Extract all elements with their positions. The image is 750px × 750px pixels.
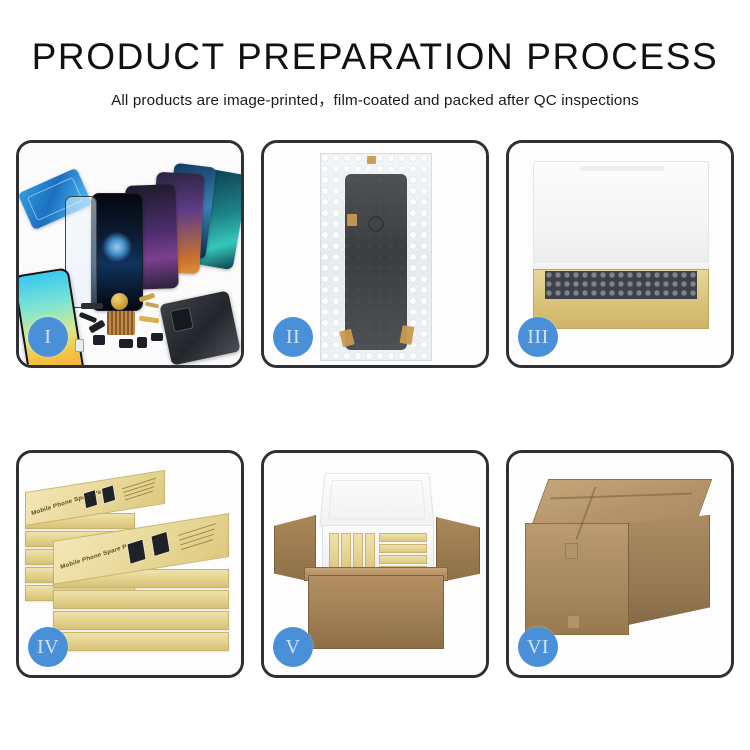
white-foam-lid-icon xyxy=(319,473,435,528)
kraft-box-inside xyxy=(341,533,351,571)
page-subtitle: All products are image-printed，film-coat… xyxy=(0,88,750,110)
kraft-box-side xyxy=(53,611,229,630)
process-step-panel-1: I xyxy=(16,140,244,368)
bubble-wrap-bag-icon xyxy=(320,153,432,361)
product-assortment-photo: I xyxy=(19,143,241,365)
process-step-panel-3: III xyxy=(506,140,734,368)
kraft-box-inside xyxy=(329,533,339,571)
screen-assembly-icon xyxy=(345,174,407,350)
process-step-panel-6: VI xyxy=(506,450,734,678)
shipping-carton-icon xyxy=(308,575,444,649)
gold-tape-icon xyxy=(347,214,357,226)
boxed-units-stack-photo: Mobile Phone Spare Parts xyxy=(19,453,241,675)
product-preparation-infographic: PRODUCT PREPARATION PROCESS All products… xyxy=(0,0,750,750)
box-screen-image xyxy=(83,489,98,509)
packing-tape-icon xyxy=(565,543,578,559)
step-badge-3: III xyxy=(518,317,558,357)
inner-box-packing-photo: III xyxy=(509,143,731,365)
step-badge-5: V xyxy=(273,627,313,667)
ic-array-icon xyxy=(107,311,135,335)
header: PRODUCT PREPARATION PROCESS All products… xyxy=(0,38,750,110)
bubble-wrap-packing-photo: II xyxy=(264,143,486,365)
sealed-carton-photo: VI xyxy=(509,453,731,675)
step-badge-2: II xyxy=(273,317,313,357)
process-step-panel-4: Mobile Phone Spare Parts xyxy=(16,450,244,678)
process-step-grid: I II III xyxy=(16,140,734,678)
packing-tape-icon xyxy=(567,615,580,629)
chip-icon xyxy=(151,333,163,341)
box-screen-image xyxy=(150,531,170,558)
box-label: Mobile Phone Spare Parts xyxy=(31,487,110,517)
vibrator-motor-icon xyxy=(111,293,128,310)
carton-side-face xyxy=(628,515,710,625)
component-bar-icon xyxy=(81,303,103,309)
box-spec-line xyxy=(181,539,213,550)
chip-icon xyxy=(93,335,105,345)
box-screen-image xyxy=(126,538,146,565)
gold-tape-icon xyxy=(367,156,376,164)
kraft-box-inside xyxy=(379,555,427,564)
box-screen-image xyxy=(101,484,116,504)
process-step-panel-2: II xyxy=(261,140,489,368)
sealed-kraft-carton-icon xyxy=(525,479,713,645)
step-badge-4: IV xyxy=(28,627,68,667)
kraft-box-inside xyxy=(379,533,427,542)
chip-icon xyxy=(137,337,147,348)
kraft-box-side xyxy=(53,632,229,651)
kraft-box-inside xyxy=(379,544,427,553)
step-badge-6: VI xyxy=(518,627,558,667)
kraft-box-inside xyxy=(353,533,363,571)
chip-icon xyxy=(119,339,133,348)
process-step-panel-5: V xyxy=(261,450,489,678)
page-title: PRODUCT PREPARATION PROCESS xyxy=(0,38,750,77)
kraft-box-inside xyxy=(365,533,375,571)
carton-loading-photo: V xyxy=(264,453,486,675)
bubble-wrapped-stack-icon xyxy=(545,271,697,299)
step-badge-1: I xyxy=(28,317,68,357)
sim-tray-icon xyxy=(75,339,84,352)
kraft-box-side xyxy=(53,590,229,609)
gold-tape-icon xyxy=(400,325,415,345)
